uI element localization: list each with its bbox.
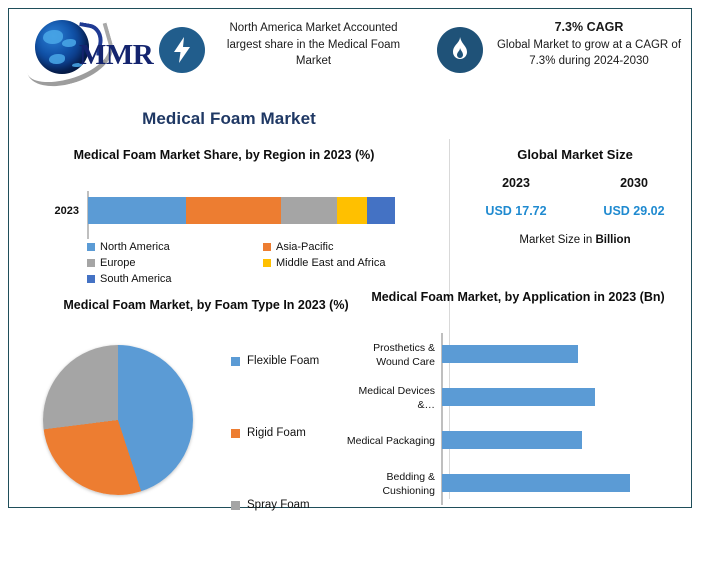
global-market-size-col-2030: 2030 USD 29.02 (575, 176, 693, 218)
chart-region-share: Medical Foam Market Share, by Region in … (21, 147, 441, 282)
global-market-size-title: Global Market Size (457, 147, 693, 162)
application-bar (442, 345, 578, 363)
legend-swatch-icon (231, 357, 240, 366)
brand-logo: MMR (21, 12, 157, 80)
chart-foam-type-title: Medical Foam Market, by Foam Type In 202… (41, 297, 371, 314)
application-label-line: Bedding & (387, 470, 435, 484)
application-bar (442, 431, 582, 449)
region-segment-2 (281, 197, 336, 224)
application-label-line: Prosthetics & (373, 341, 435, 355)
legend-swatch-icon (87, 275, 95, 283)
application-label-line: Medical Devices (359, 384, 435, 398)
global-market-size-col-2023: 2023 USD 17.72 (457, 176, 575, 218)
region-legend-item: Middle East and Africa (263, 255, 439, 271)
header-stat-region-body: North America Market Accounted largest s… (227, 22, 400, 67)
chart-region-share-legend: North AmericaAsia-PacificEuropeMiddle Ea… (87, 239, 439, 287)
region-legend-item: North America (87, 239, 263, 255)
header-stat-cagr: 7.3% CAGR Global Market to grow at a CAG… (437, 15, 687, 87)
application-label-line: Wound Care (376, 355, 435, 369)
legend-swatch-icon (231, 429, 240, 438)
chart-region-share-plot: 2023 (21, 191, 441, 239)
foam-type-legend-label: Spray Foam (247, 499, 310, 511)
region-legend-label: Asia-Pacific (276, 239, 333, 255)
global-market-size: Global Market Size 2023 USD 17.72 2030 U… (457, 147, 693, 246)
chart-application-rows: Prosthetics &Wound CareMedical Devices&…… (345, 333, 693, 505)
global-market-size-footer: Market Size in Billion (457, 234, 693, 246)
application-label-line: &… (417, 398, 435, 412)
gms-year-2023: 2023 (457, 176, 575, 190)
region-segment-3 (337, 197, 368, 224)
global-market-size-row: 2023 USD 17.72 2030 USD 29.02 (457, 176, 693, 218)
application-label: Prosthetics &Wound Care (345, 333, 435, 376)
page-title: Medical Foam Market (9, 109, 449, 129)
chart-application: Medical Foam Market, by Application in 2… (345, 289, 693, 507)
legend-swatch-icon (87, 243, 95, 251)
flame-icon (437, 27, 483, 73)
region-legend-item: Europe (87, 255, 263, 271)
foam-type-legend-label: Flexible Foam (247, 355, 319, 367)
application-label: Medical Packaging (345, 419, 435, 462)
gms-year-2030: 2030 (575, 176, 693, 190)
region-legend-item: South America (87, 271, 263, 287)
lightning-bolt-icon (159, 27, 205, 73)
region-legend-label: Europe (100, 255, 135, 271)
chart-application-plot: Prosthetics &Wound CareMedical Devices&…… (345, 333, 693, 505)
region-segment-4 (367, 197, 395, 224)
application-bar (442, 474, 630, 492)
chart-region-share-category: 2023 (27, 205, 79, 217)
legend-swatch-icon (231, 501, 240, 510)
application-label: Bedding &Cushioning (345, 462, 435, 505)
region-legend-label: South America (100, 271, 172, 287)
logo-text: MMR (79, 39, 153, 72)
foam-type-legend-label: Rigid Foam (247, 427, 306, 439)
application-row: Medical Devices&… (345, 376, 693, 419)
application-label-line: Cushioning (382, 484, 435, 498)
region-segment-0 (88, 197, 186, 224)
region-legend-label: Middle East and Africa (276, 255, 385, 271)
chart-application-title: Medical Foam Market, by Application in 2… (353, 289, 683, 306)
infographic-frame: MMR North America Market Accounted large… (8, 8, 692, 508)
region-legend-item: Asia-Pacific (263, 239, 439, 255)
legend-swatch-icon (263, 259, 271, 267)
legend-swatch-icon (263, 243, 271, 251)
chart-foam-type-plot (43, 345, 193, 495)
chart-region-share-title: Medical Foam Market Share, by Region in … (39, 147, 409, 164)
gms-footer-prefix: Market Size in (519, 234, 595, 246)
header-stat-region-text: North America Market Accounted largest s… (213, 19, 414, 70)
gms-value-2030: USD 29.02 (575, 204, 693, 218)
header-stat-cagr-body: Global Market to grow at a CAGR of 7.3% … (497, 39, 681, 68)
gms-value-2023: USD 17.72 (457, 204, 575, 218)
application-row: Bedding &Cushioning (345, 462, 693, 505)
region-segment-1 (186, 197, 281, 224)
application-label: Medical Devices&… (345, 376, 435, 419)
region-legend-label: North America (100, 239, 170, 255)
header-stat-cagr-bold: 7.3% CAGR (491, 19, 687, 36)
application-row: Prosthetics &Wound Care (345, 333, 693, 376)
chart-region-share-bar (88, 197, 395, 224)
application-label-line: Medical Packaging (347, 434, 435, 448)
legend-swatch-icon (87, 259, 95, 267)
header-stat-cagr-text: 7.3% CAGR Global Market to grow at a CAG… (491, 19, 687, 70)
pie-chart (43, 345, 193, 495)
application-bar (442, 388, 595, 406)
application-row: Medical Packaging (345, 419, 693, 462)
header: MMR North America Market Accounted large… (9, 9, 693, 93)
gms-footer-unit: Billion (595, 234, 630, 246)
header-stat-region: North America Market Accounted largest s… (159, 15, 414, 87)
